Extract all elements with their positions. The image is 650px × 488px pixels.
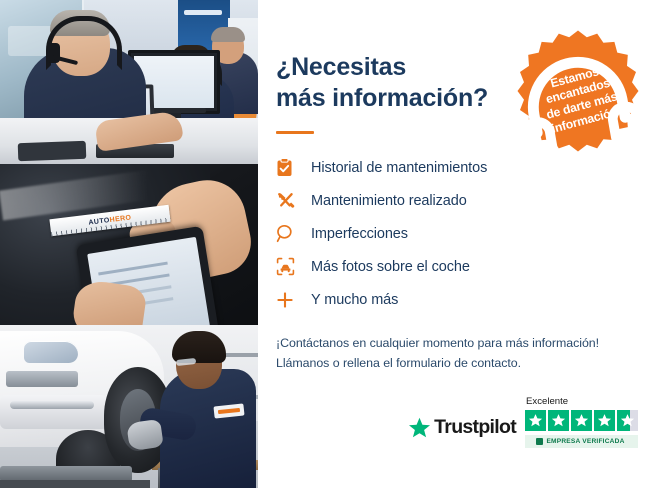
feature-label: Más fotos sobre el coche: [302, 259, 470, 275]
title-divider: [276, 131, 314, 134]
car-headlight: [24, 341, 78, 363]
chrome-trim: [10, 401, 94, 409]
tools-cross-icon: [276, 190, 302, 212]
headline-line-2: más información?: [276, 83, 506, 114]
car-grille: [6, 371, 78, 387]
star-partial: [617, 410, 638, 431]
trustpilot-logo[interactable]: Trustpilot: [408, 416, 516, 448]
feature-label: Historial de mantenimientos: [302, 160, 487, 176]
promo-starburst-badge: Estamos encantados de darte más informac…: [515, 28, 641, 154]
feature-item-much-more: Y mucho más: [276, 283, 650, 316]
headset-icon: [46, 16, 122, 70]
page-title: ¿Necesitas más información?: [276, 52, 506, 114]
clipboard-check-icon: [276, 157, 302, 179]
trustpilot-score-block: Excelente: [525, 396, 638, 448]
trustpilot-rating[interactable]: Trustpilot Excelente: [408, 396, 638, 448]
photo-collage: AUTOHERO: [0, 0, 258, 488]
work-glove: [126, 419, 164, 451]
call-centre-agents-photo: [0, 0, 258, 164]
content-panel: ¿Necesitas más información? Historial de…: [258, 0, 650, 488]
feature-item-maintenance-done: Mantenimiento realizado: [276, 184, 650, 217]
star-filled: [548, 410, 569, 431]
mechanic-hair: [172, 331, 226, 363]
verified-company-badge: EMPRESA VERIFICADA: [525, 435, 638, 448]
desk-tablet: [18, 141, 87, 161]
feature-item-more-photos: Más fotos sobre el coche: [276, 250, 650, 283]
headline-line-1: ¿Necesitas: [276, 53, 406, 81]
feature-label: Y mucho más: [302, 292, 398, 308]
ruler-brand-text: AUTOHERO: [88, 214, 132, 226]
headset-icon: [505, 34, 650, 180]
check-icon: [536, 438, 543, 445]
contact-paragraph: ¡Contáctanos en cualquier momento para m…: [276, 333, 650, 373]
mechanic-wheel-photo: [0, 325, 258, 488]
star-filled: [571, 410, 592, 431]
feature-label: Mantenimiento realizado: [302, 193, 467, 209]
trustpilot-wordmark: Trustpilot: [434, 416, 516, 439]
feature-item-imperfections: Imperfecciones: [276, 217, 650, 250]
trustpilot-star-icon: [408, 417, 431, 439]
feature-list: Historial de mantenimientos Mantenimient…: [276, 151, 650, 316]
car-lift-base: [0, 480, 150, 488]
rating-label: Excelente: [525, 396, 568, 407]
feature-label: Imperfecciones: [302, 226, 408, 242]
car-viewfinder-icon: [276, 256, 302, 278]
magnifier-icon: [276, 223, 302, 245]
star-rating: [525, 410, 638, 431]
plus-icon: [276, 289, 302, 311]
vehicle-inspection-photo: AUTOHERO: [0, 164, 258, 325]
star-filled: [594, 410, 615, 431]
contact-line-1: ¡Contáctanos en cualquier momento para m…: [276, 333, 650, 353]
contact-line-2: Llámanos o rellena el formulario de cont…: [276, 353, 650, 373]
info-banner: AUTOHERO: [0, 0, 650, 488]
verified-label: EMPRESA VERIFICADA: [546, 438, 624, 445]
star-filled: [525, 410, 546, 431]
